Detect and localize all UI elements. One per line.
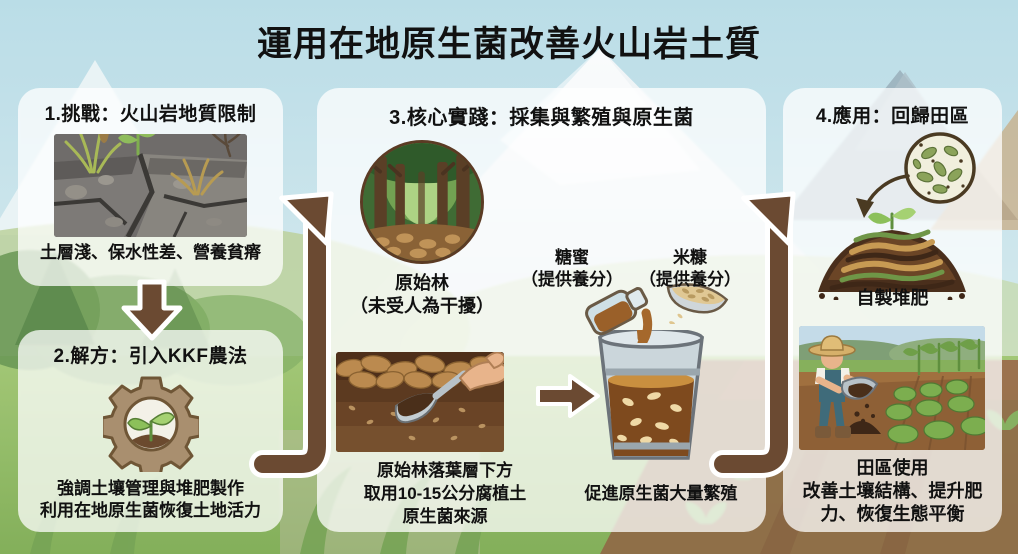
card1-title: 1.挑戰：火山岩地質限制 [18,88,283,126]
field-caption-line3: 力、恢復生態平衡 [783,504,1002,526]
arrow-down-icon [118,282,186,340]
arrow-right-icon [538,374,600,418]
field-caption-line2: 改善土壤結構、提升肥 [783,481,1002,503]
curved-arrow-right-icon [255,178,365,478]
molasses-jar-illustration [584,283,662,343]
molasses-label-line1: 糖蜜 [512,247,632,268]
litter-caption-line3: 原生菌來源 [330,507,560,528]
card1-caption: 土層淺、保水性差、營養貧瘠 [18,243,283,264]
curved-arrow-down-icon [852,172,912,228]
card3-title: 3.核心實踐：採集與繁殖與原生菌 [317,88,766,130]
cracked-volcanic-rock-illustration [54,134,247,237]
card2-caption-line1: 強調土壤管理與堆肥製作 [18,479,283,500]
curved-arrow-right-icon [715,178,831,478]
bucket-caption: 促進原生菌大量繁殖 [566,484,756,505]
page-title: 運用在地原生菌改善火山岩土質 [0,16,1018,67]
microbe-petri-icon [903,131,977,205]
card4-title: 4.應用：回歸田區 [783,88,1002,128]
card2-caption-line2: 利用在地原生菌恢復土地活力 [18,501,283,522]
litter-caption-line2: 取用10-15公分腐植土 [330,484,560,505]
fermentation-bucket-illustration [592,330,710,465]
primary-forest-illustration [360,140,484,264]
gear-sprout-icon [103,376,199,472]
